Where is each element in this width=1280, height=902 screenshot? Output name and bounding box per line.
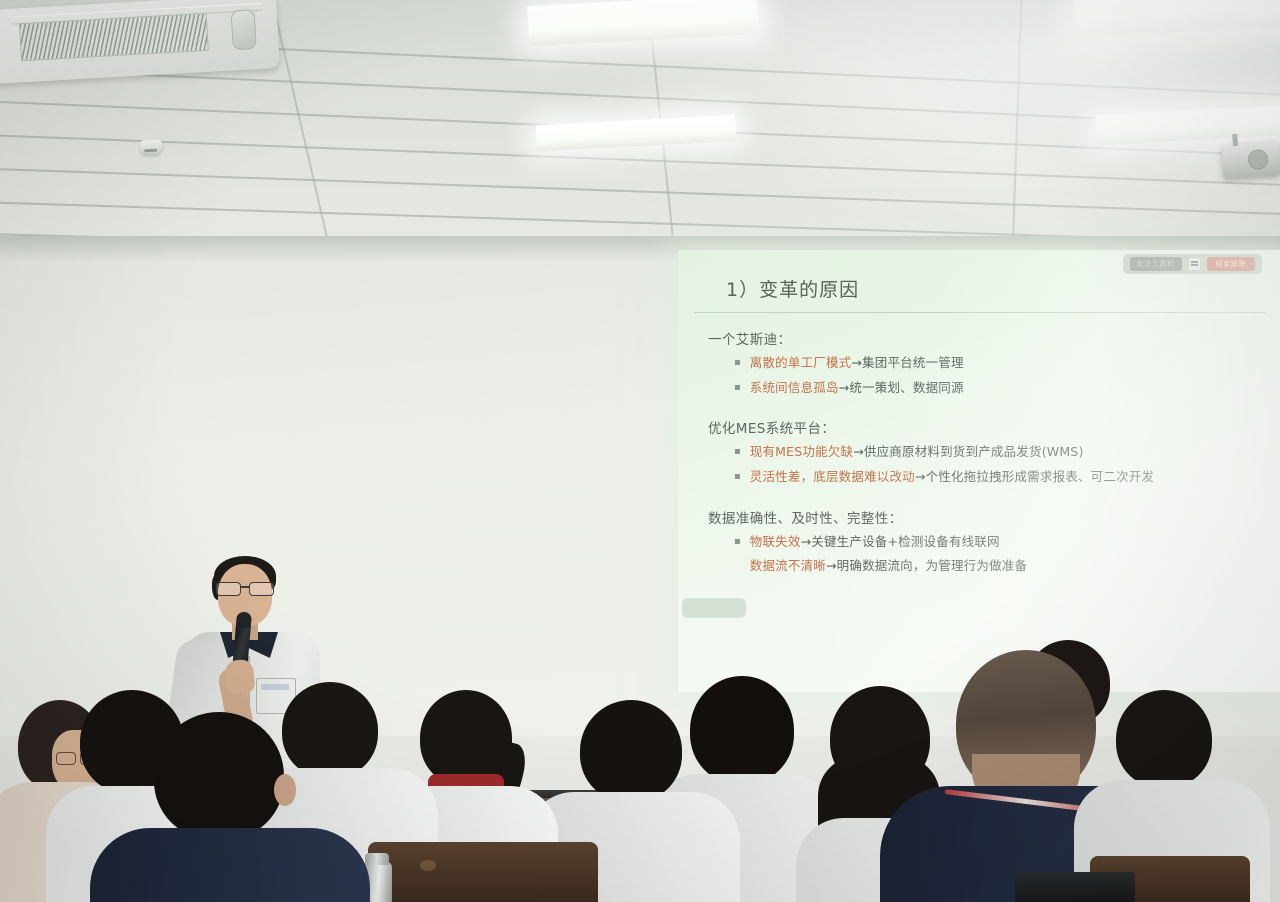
bullet-highlight: 现有MES功能欠缺 bbox=[750, 444, 853, 459]
slide-bullet: ▪ 现有MES功能欠缺→供应商原材料到货到产成品发货(WMS) bbox=[734, 444, 1272, 460]
section-heading: 一个艾斯迪： bbox=[708, 328, 1272, 348]
bullet-arrow: → bbox=[839, 380, 850, 395]
bullet-rest: 统一策划、数据同源 bbox=[849, 380, 963, 395]
ear bbox=[274, 774, 296, 806]
bullet-text: 离散的单工厂模式→集团平台统一管理 bbox=[750, 355, 964, 371]
torso bbox=[90, 828, 370, 902]
slide-section: 一个艾斯迪： ▪ 离散的单工厂模式→集团平台统一管理 ▪ 系统间信息孤岛→统一策… bbox=[708, 328, 1272, 395]
slide-bullet: ▪ 物联失效→关键生产设备+检测设备有线联网 bbox=[734, 534, 1272, 550]
smoke-detector-icon bbox=[140, 139, 163, 154]
projected-slide: 批注工具栏 结束放映 1）变革的原因 一个艾斯迪： ▪ 离散的单工厂模式→集团平… bbox=[678, 250, 1280, 692]
bullet-dot-icon: ▪ bbox=[734, 380, 741, 395]
section-heading: 数据准确性、及时性、完整性： bbox=[708, 507, 1272, 527]
bullet-arrow: → bbox=[826, 558, 837, 573]
bullet-dot-icon: ▪ bbox=[734, 534, 741, 549]
slide-bullet: ▪ 灵活性差，底层数据难以改动→个性化拖拉拽形成需求报表、可二次开发 bbox=[734, 469, 1272, 485]
bullet-text: 灵活性差，底层数据难以改动→个性化拖拉拽形成需求报表、可二次开发 bbox=[750, 469, 1154, 485]
projector-icon bbox=[1221, 140, 1280, 178]
pen-icon[interactable] bbox=[1189, 258, 1200, 270]
bullet-highlight: 物联失效 bbox=[750, 534, 801, 549]
slide-bullet: ▪ 系统间信息孤岛→统一策划、数据同源 bbox=[734, 380, 1272, 396]
audience-man-navy-front bbox=[120, 712, 330, 902]
bullet-highlight: 数据流不清晰 bbox=[750, 558, 826, 573]
bullet-rest: 明确数据流向，为管理行为做准备 bbox=[837, 558, 1028, 573]
bullet-dot-icon: ▪ bbox=[734, 469, 741, 484]
bullet-highlight: 灵活性差，底层数据难以改动 bbox=[750, 469, 915, 484]
slide-section: 数据准确性、及时性、完整性： ▪ 物联失效→关键生产设备+检测设备有线联网 ▪ … bbox=[708, 507, 1272, 574]
bullet-arrow: → bbox=[853, 444, 864, 459]
glasses-icon bbox=[216, 582, 274, 594]
bullet-arrow: → bbox=[915, 469, 926, 484]
bullet-text: 物联失效→关键生产设备+检测设备有线联网 bbox=[750, 534, 1000, 550]
bullet-arrow: → bbox=[801, 534, 812, 549]
toolbar-pill-label[interactable]: 批注工具栏 bbox=[1130, 257, 1182, 271]
slide-section: 优化MES系统平台： ▪ 现有MES功能欠缺→供应商原材料到货到产成品发货(WM… bbox=[708, 417, 1272, 484]
section-heading: 优化MES系统平台： bbox=[708, 417, 1272, 437]
bullet-text: 现有MES功能欠缺→供应商原材料到货到产成品发货(WMS) bbox=[750, 444, 1084, 460]
slide-title-divider bbox=[694, 312, 1266, 313]
bullet-dot-icon: ▪ bbox=[734, 444, 741, 459]
head bbox=[580, 700, 682, 802]
chair-back bbox=[368, 842, 598, 902]
bullet-text: 数据流不清晰→明确数据流向，为管理行为做准备 bbox=[750, 558, 1027, 574]
head bbox=[154, 712, 284, 840]
bullet-rest: 集团平台统一管理 bbox=[862, 355, 964, 370]
slide-title: 1）变革的原因 bbox=[726, 275, 859, 302]
slide-body: 一个艾斯迪： ▪ 离散的单工厂模式→集团平台统一管理 ▪ 系统间信息孤岛→统一策… bbox=[708, 328, 1272, 583]
laptop-right bbox=[1015, 872, 1135, 902]
slide-annotation-toolbar[interactable]: 批注工具栏 结束放映 bbox=[1123, 254, 1262, 274]
slide-bullet: ▪ 数据流不清晰→明确数据流向，为管理行为做准备 bbox=[734, 558, 1272, 574]
bullet-highlight: 离散的单工厂模式 bbox=[750, 355, 852, 370]
ceiling bbox=[0, 0, 1280, 250]
conference-room-photo: 批注工具栏 结束放映 1）变革的原因 一个艾斯迪： ▪ 离散的单工厂模式→集团平… bbox=[0, 0, 1280, 902]
slide-bullet: ▪ 离散的单工厂模式→集团平台统一管理 bbox=[734, 355, 1272, 371]
end-show-button[interactable]: 结束放映 bbox=[1207, 257, 1255, 271]
bullet-rest: 供应商原材料到货到产成品发货(WMS) bbox=[864, 444, 1084, 459]
slide-corner-badge bbox=[682, 598, 746, 618]
bullet-rest: 个性化拖拉拽形成需求报表、可二次开发 bbox=[926, 469, 1155, 484]
bullet-text: 系统间信息孤岛→统一策划、数据同源 bbox=[750, 380, 964, 396]
head bbox=[1116, 690, 1212, 788]
bullet-dot-icon: ▪ bbox=[734, 355, 741, 370]
bullet-highlight: 系统间信息孤岛 bbox=[750, 380, 839, 395]
bullet-arrow: → bbox=[851, 355, 862, 370]
bullet-rest: 关键生产设备+检测设备有线联网 bbox=[811, 534, 999, 549]
